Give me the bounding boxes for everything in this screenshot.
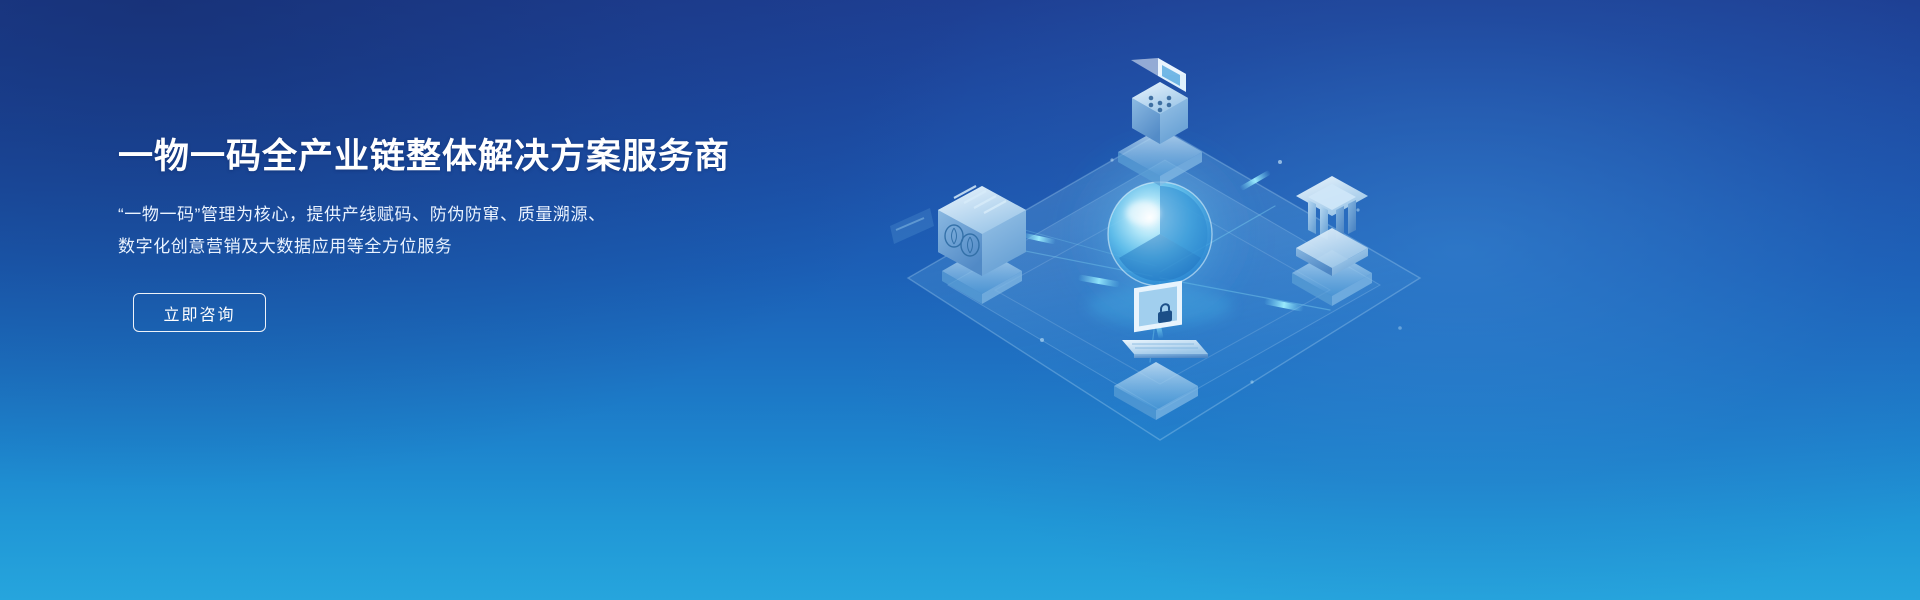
pos-terminal-icon (1131, 58, 1188, 144)
hero-subtitle-line-2: 数字化创意营销及大数据应用等全方位服务 (118, 231, 758, 263)
left-glow-shard (890, 208, 934, 244)
server-fans-node (890, 186, 1026, 304)
hero-banner: 一物一码全产业链整体解决方案服务商 “一物一码”管理为核心，提供产线赋码、防伪防… (0, 0, 1920, 600)
isometric-network-illustration (860, 10, 1480, 590)
pos-terminal-node (1118, 58, 1202, 186)
hero-subtitle-line-1: “一物一码”管理为核心，提供产线赋码、防伪防窜、质量溯源、 (118, 199, 758, 231)
page-title: 一物一码全产业链整体解决方案服务商 (118, 136, 758, 178)
consult-now-button[interactable]: 立即咨询 (133, 293, 266, 332)
hero-copy-block: 一物一码全产业链整体解决方案服务商 “一物一码”管理为核心，提供产线赋码、防伪防… (118, 136, 758, 332)
hero-subtitle: “一物一码”管理为核心，提供产线赋码、防伪防窜、质量溯源、 数字化创意营销及大数… (118, 199, 758, 263)
